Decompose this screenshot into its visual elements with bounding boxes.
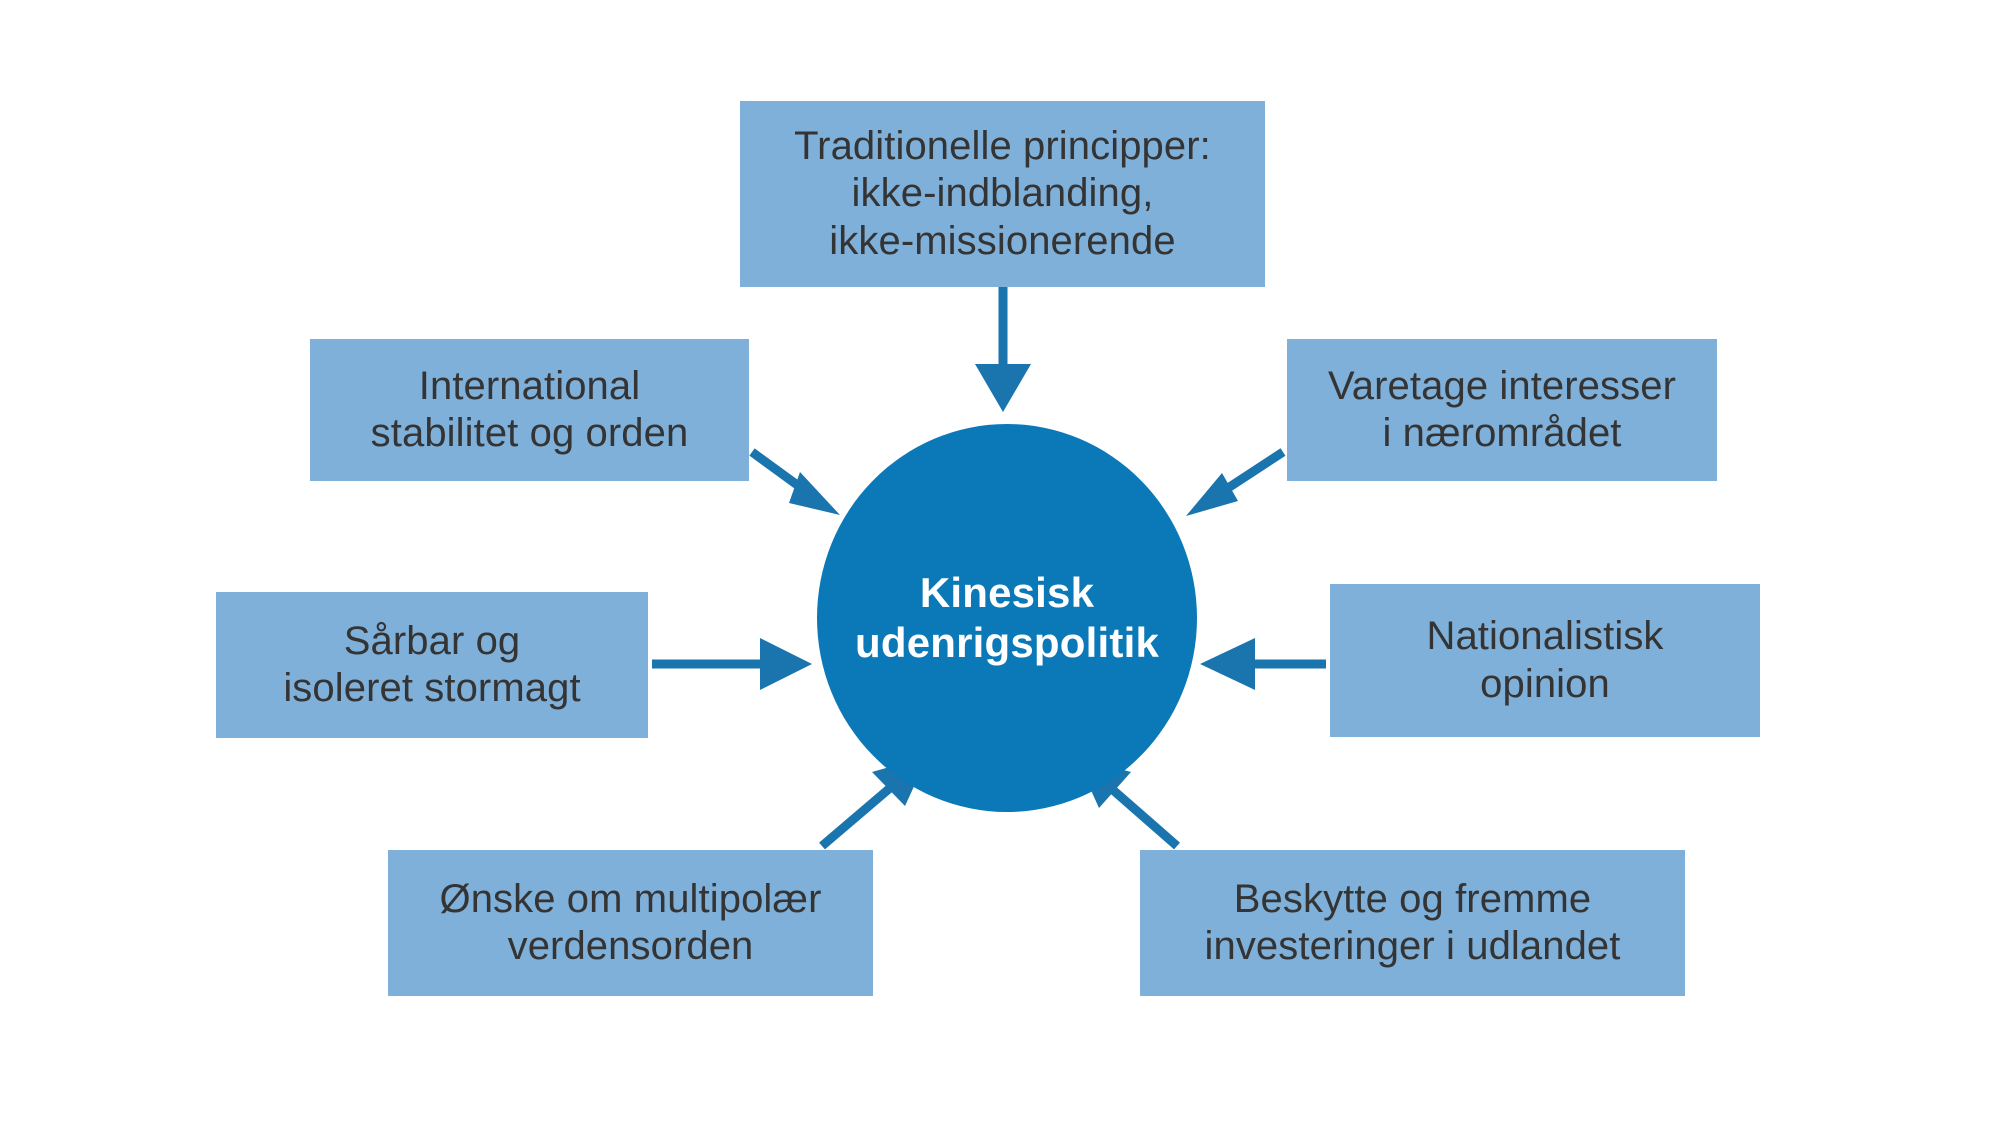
node-nationalist-opinion-label: Nationalistisk opinion	[1340, 613, 1750, 707]
node-international-stability: International stabilitet og orden	[310, 339, 749, 481]
node-protect-investments-label: Beskytte og fremme investeringer i udlan…	[1150, 876, 1675, 970]
arrow-safeguard-interests	[1186, 452, 1283, 516]
center-hub-ellipse: Kinesisk udenrigspolitik	[817, 424, 1197, 812]
arrow-traditional-principles	[975, 287, 1031, 412]
node-vulnerable-great-power: Sårbar og isoleret stormagt	[216, 592, 648, 738]
node-safeguard-interests: Varetage interesser i nærområdet	[1287, 339, 1717, 481]
arrow-international-stability	[752, 452, 840, 515]
node-traditional-principles: Traditionelle principper: ikke-indblandi…	[740, 101, 1265, 287]
diagram-canvas: Kinesisk udenrigspolitik Traditionelle p…	[0, 0, 2000, 1142]
center-hub-label: Kinesisk udenrigspolitik	[855, 568, 1159, 669]
arrow-vulnerable-great-power	[652, 638, 812, 690]
node-multipolar-world-order-label: Ønske om multipolær verdensorden	[398, 876, 863, 970]
arrow-nationalist-opinion	[1200, 638, 1326, 690]
node-vulnerable-great-power-label: Sårbar og isoleret stormagt	[226, 618, 638, 712]
node-nationalist-opinion: Nationalistisk opinion	[1330, 584, 1760, 737]
node-international-stability-label: International stabilitet og orden	[320, 363, 739, 457]
node-multipolar-world-order: Ønske om multipolær verdensorden	[388, 850, 873, 996]
node-safeguard-interests-label: Varetage interesser i nærområdet	[1297, 363, 1707, 457]
node-traditional-principles-label: Traditionelle principper: ikke-indblandi…	[750, 123, 1255, 265]
node-protect-investments: Beskytte og fremme investeringer i udlan…	[1140, 850, 1685, 996]
